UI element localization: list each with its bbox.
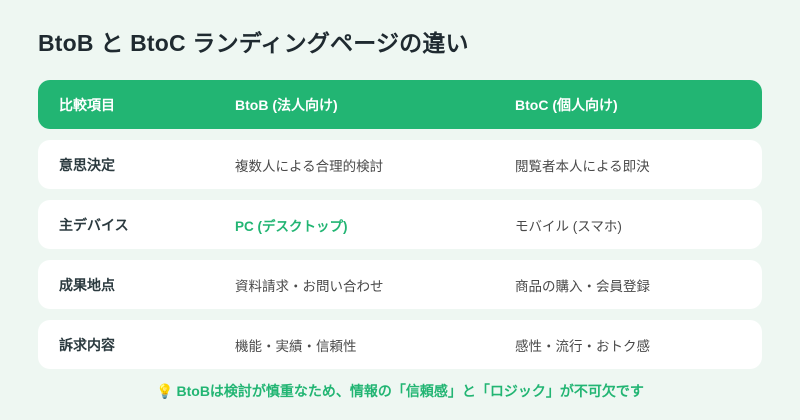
table-header-cell-criteria: 比較項目	[38, 95, 235, 115]
table-cell-btoc: 感性・流行・おトク感	[515, 335, 762, 355]
table-cell-btoc: モバイル (スマホ)	[515, 215, 762, 235]
table-cell-criteria: 訴求内容	[38, 335, 235, 355]
table-row: 訴求内容機能・実績・信頼性感性・流行・おトク感	[38, 320, 762, 369]
table-cell-btoc: 商品の購入・会員登録	[515, 275, 762, 295]
table-cell-criteria: 成果地点	[38, 275, 235, 295]
table-cell-btoc: 閲覧者本人による即決	[515, 155, 762, 175]
table-header-cell-btoc: BtoC (個人向け)	[515, 95, 762, 115]
table-cell-btob: 資料請求・お問い合わせ	[235, 275, 515, 295]
infographic-page: BtoB と BtoC ランディングページの違い 比較項目 BtoB (法人向け…	[0, 0, 800, 420]
lightbulb-icon: 💡	[156, 383, 173, 399]
table-row: 成果地点資料請求・お問い合わせ商品の購入・会員登録	[38, 260, 762, 309]
table-cell-btob: PC (デスクトップ)	[235, 215, 515, 235]
table-row: 主デバイスPC (デスクトップ)モバイル (スマホ)	[38, 200, 762, 249]
table-cell-btob: 複数人による合理的検討	[235, 155, 515, 175]
table-row: 意思決定複数人による合理的検討閲覧者本人による即決	[38, 140, 762, 189]
page-title: BtoB と BtoC ランディングページの違い	[38, 24, 469, 58]
comparison-table: 比較項目 BtoB (法人向け) BtoC (個人向け) 意思決定複数人による合…	[38, 80, 762, 380]
table-body: 意思決定複数人による合理的検討閲覧者本人による即決主デバイスPC (デスクトップ…	[38, 140, 762, 369]
footer-note: 💡BtoBは検討が慎重なため、情報の「信頼感」と「ロジック」が不可欠です	[0, 381, 800, 401]
footer-note-text: BtoBは検討が慎重なため、情報の「信頼感」と「ロジック」が不可欠です	[177, 383, 644, 399]
table-header-cell-btob: BtoB (法人向け)	[235, 95, 515, 115]
table-cell-criteria: 主デバイス	[38, 215, 235, 235]
table-cell-btob: 機能・実績・信頼性	[235, 335, 515, 355]
table-header-row: 比較項目 BtoB (法人向け) BtoC (個人向け)	[38, 80, 762, 129]
table-cell-criteria: 意思決定	[38, 155, 235, 175]
